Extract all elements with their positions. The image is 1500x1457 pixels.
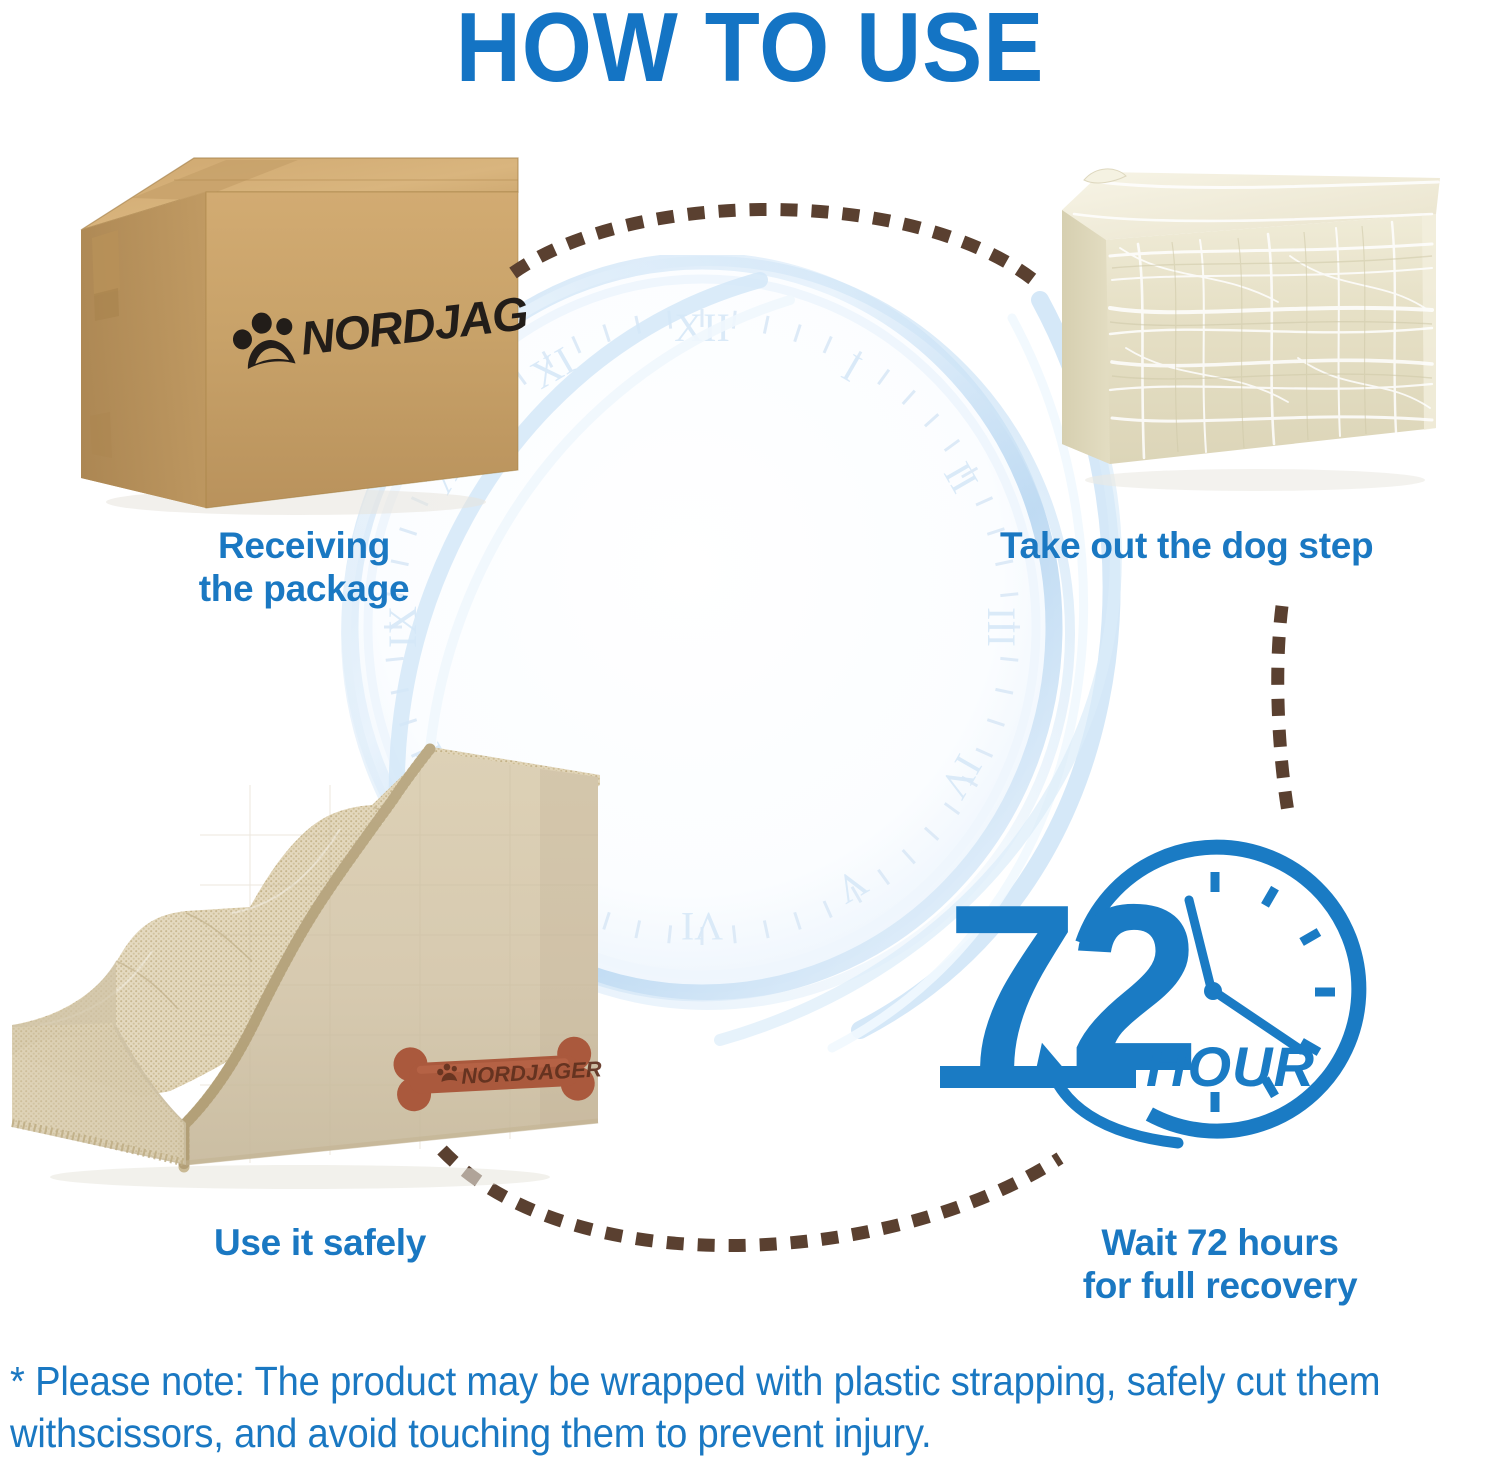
svg-text:XI: XI: [523, 338, 582, 398]
svg-text:III: III: [979, 607, 1024, 647]
footnote: * Please note: The product may be wrappe…: [10, 1355, 1386, 1457]
step-2-image-wrapped-package: [1040, 152, 1460, 492]
badge-unit: HOUR: [1146, 1035, 1315, 1098]
footnote-marker: *: [10, 1358, 25, 1404]
step-3-caption-line2: for full recovery: [1000, 1265, 1440, 1308]
connector-line-right: [1252, 600, 1362, 820]
svg-text:IV: IV: [931, 747, 991, 806]
step-2-caption-line1: Take out the dog step: [1000, 525, 1500, 568]
step-3-caption: Wait 72 hours for full recovery: [1000, 1222, 1440, 1308]
svg-text:V: V: [828, 860, 876, 913]
svg-text:I: I: [835, 345, 869, 391]
step-3-image-72-hour-clock: 72 HOUR: [940, 812, 1410, 1167]
step-1-caption-line2: the package: [104, 568, 504, 611]
step-4-caption: Use it safely: [130, 1222, 510, 1265]
step-4-caption-line1: Use it safely: [130, 1222, 510, 1265]
step-4-image-dog-step-stairs: NORDJAGER: [0, 725, 620, 1190]
connector-arc-top: [505, 185, 1045, 295]
step-1-caption: Receiving the package: [104, 525, 504, 611]
step-1-image-cardboard-box: NORDJAGER: [66, 140, 526, 515]
step-1-caption-line1: Receiving: [104, 525, 504, 568]
footnote-line2: withscissors, and avoid touching them to…: [10, 1407, 1386, 1457]
clock-hands: [1189, 900, 1301, 1050]
svg-text:IX: IX: [380, 606, 425, 648]
footnote-line1: Please note: The product may be wrapped …: [35, 1358, 1380, 1404]
svg-text:XII: XII: [674, 305, 730, 350]
step-2-caption: Take out the dog step: [1000, 525, 1500, 568]
svg-text:II: II: [935, 454, 987, 500]
svg-text:VI: VI: [681, 904, 723, 949]
page-title: HOW TO USE: [60, 0, 1440, 96]
infographic-how-to-use: XII I II III IV V VI VII VIII IX X XI HO…: [0, 0, 1500, 1457]
step-3-caption-line1: Wait 72 hours: [1000, 1222, 1440, 1265]
